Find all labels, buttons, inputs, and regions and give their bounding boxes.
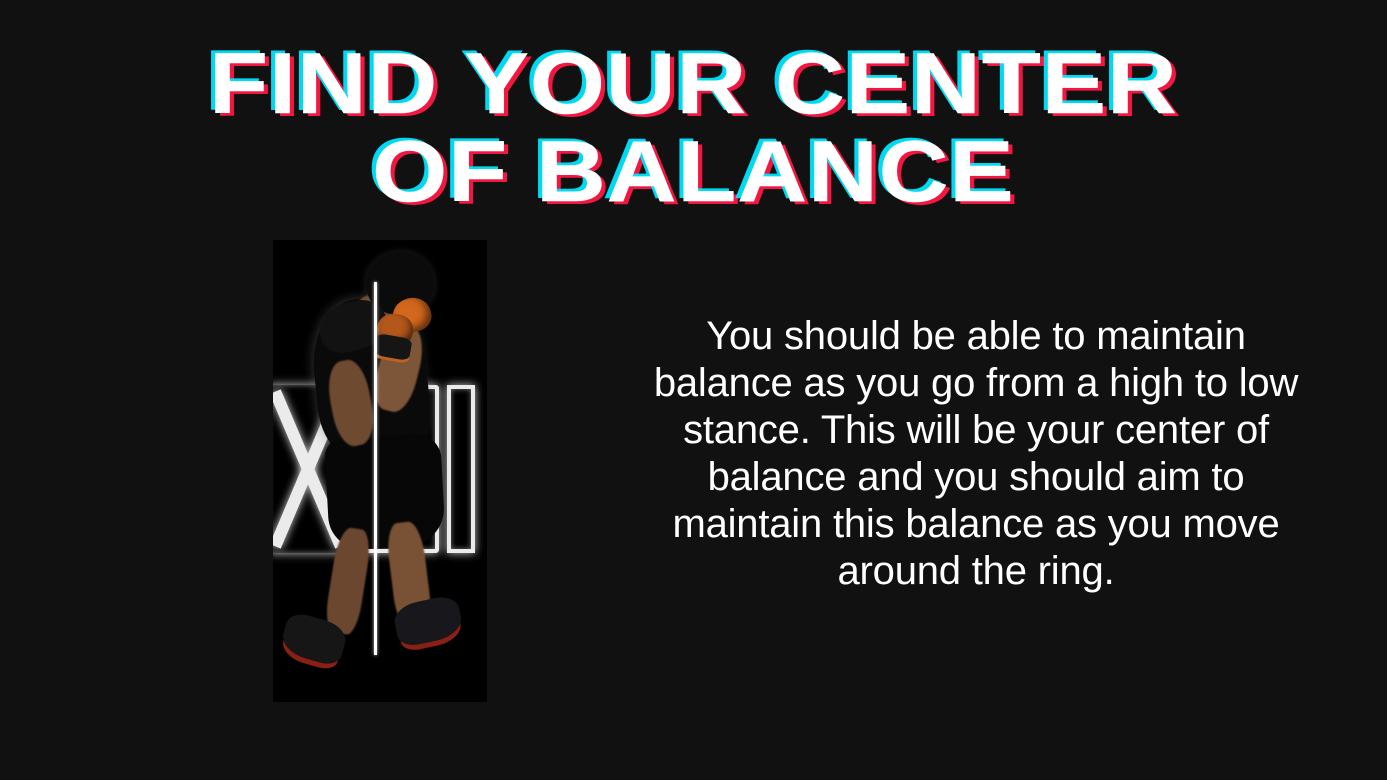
slide-canvas: FIND YOUR CENTER OF BALANCE: [0, 0, 1387, 780]
boxer-photo: [273, 240, 487, 702]
page-title: FIND YOUR CENTER OF BALANCE: [0, 44, 1387, 212]
boxer-figure: [273, 240, 487, 702]
title-line-2: OF BALANCE: [0, 132, 1387, 212]
title-line-1: FIND YOUR CENTER: [0, 44, 1387, 124]
boxer-rear-leg: [323, 526, 373, 636]
body-paragraph: You should be able to maintain balance a…: [650, 313, 1302, 595]
center-of-balance-line: [374, 282, 377, 655]
photo-scene: [273, 240, 487, 702]
